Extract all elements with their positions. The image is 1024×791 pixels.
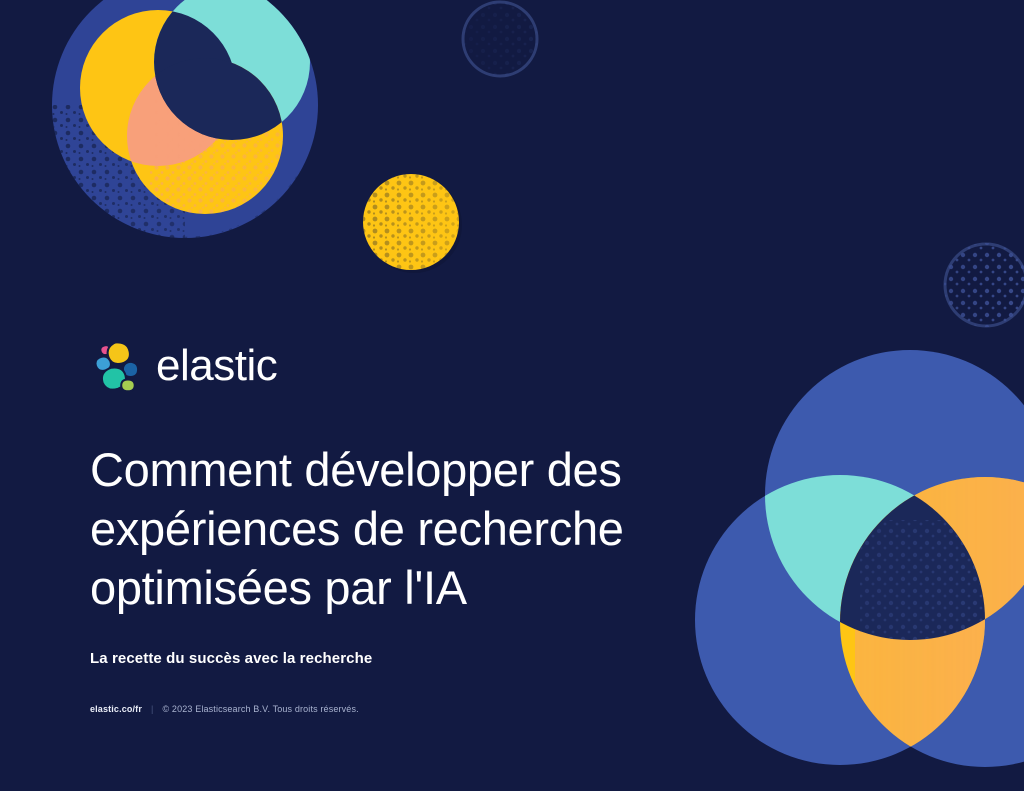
footer-copyright: © 2023 Elasticsearch B.V. Tous droits ré… xyxy=(162,704,358,714)
elastic-wordmark: elastic xyxy=(156,344,277,388)
yellow-dotted-circle xyxy=(363,174,462,273)
top-right-outline-circle xyxy=(462,1,538,77)
elastic-logo-icon xyxy=(90,339,144,393)
footer-separator: | xyxy=(151,704,154,714)
top-left-venn-sphere xyxy=(52,0,345,238)
elastic-logo: elastic xyxy=(90,330,730,402)
page-subtitle: La recette du succès avec la recherche xyxy=(90,618,730,667)
page-title: Comment développer des expériences de re… xyxy=(90,402,710,618)
footer: elastic.co/fr | © 2023 Elasticsearch B.V… xyxy=(90,667,730,714)
hero-content: elastic Comment développer des expérienc… xyxy=(90,330,730,714)
footer-link[interactable]: elastic.co/fr xyxy=(90,704,142,714)
bottom-right-venn xyxy=(682,350,1024,791)
slide-canvas: elastic Comment développer des expérienc… xyxy=(0,0,1024,791)
right-outline-circle xyxy=(944,243,1024,327)
